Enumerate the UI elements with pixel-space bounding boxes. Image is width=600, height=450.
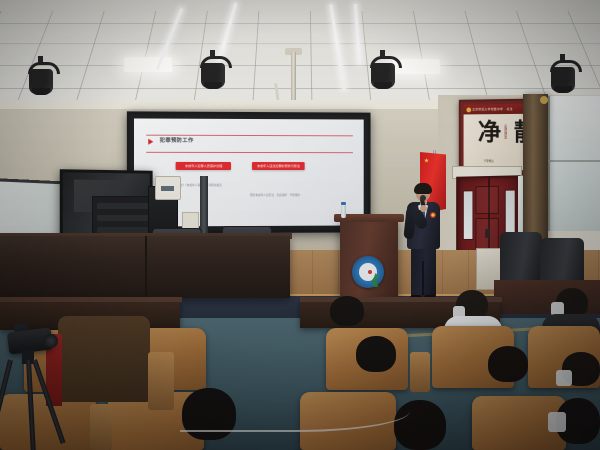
face-mask [556,370,572,386]
water-bottle [341,205,346,218]
slide-callout-box: 未成年人犯罪人员保护处理 [176,162,231,170]
presenter [403,185,443,305]
seat-armrest [410,352,430,392]
door-handle[interactable] [485,229,489,238]
rack-slot [97,203,149,209]
calligraphy-banner-text: 北京师范大学附属中学 · 书法 [472,107,512,111]
emblem-inner-disc [359,263,377,281]
slide-callout-box: 未成年人违法犯罪的预防与矫治 [252,162,304,170]
slide-title: 犯罪预防工作 [160,137,194,144]
presenter-leg-gap [422,261,424,295]
calligraphy-footer-note: 宁静致远 [484,159,494,163]
presenter-hand [420,205,427,212]
curtain[interactable] [523,94,548,244]
head-table-seam [145,236,147,298]
seat-armrest [90,404,112,450]
rack-slot [97,215,149,221]
camera-lens [44,334,58,348]
curtain-rod-knob [540,96,548,104]
auditorium-photo: 犯罪预防工作 未成年人犯罪人员保护处理 未成年人违法犯罪的预防与矫治 依据《刑法… [0,0,600,450]
face-mask [548,412,566,432]
stage-spotlight [198,56,228,90]
school-crest-emblem [352,256,384,288]
red-triangle-bullet-icon [148,138,153,144]
ceiling-panel-light [124,57,173,72]
presenter-hair [414,183,432,194]
calligraphy-inscription: 心静自然凉 [503,124,507,139]
emblem-accent-dot [368,270,372,274]
seat-armrest [148,352,174,410]
control-wall-box[interactable] [155,176,181,200]
desk-top [0,297,182,302]
stage-spotlight [368,56,398,90]
water-bottle-cap [341,202,346,205]
auditorium-seat[interactable] [58,316,150,402]
window-mullion [548,160,600,162]
stage-spotlight [548,60,578,94]
microphone-head [420,195,426,201]
window [548,96,600,231]
door-panel [475,186,498,214]
gold-seal-icon [466,107,471,112]
slide-divider-rule [146,152,353,153]
calligraphy-character: 净 [478,120,501,144]
door-glass-pane [463,190,474,240]
uniform-emblem-badge [430,212,436,218]
stage-spotlight [26,62,56,96]
slide-caption: 预防未成年人犯罪法 · 家庭保护 · 学校保护 [250,194,318,198]
wall-box-display [161,186,174,191]
floor-cable [180,390,410,432]
